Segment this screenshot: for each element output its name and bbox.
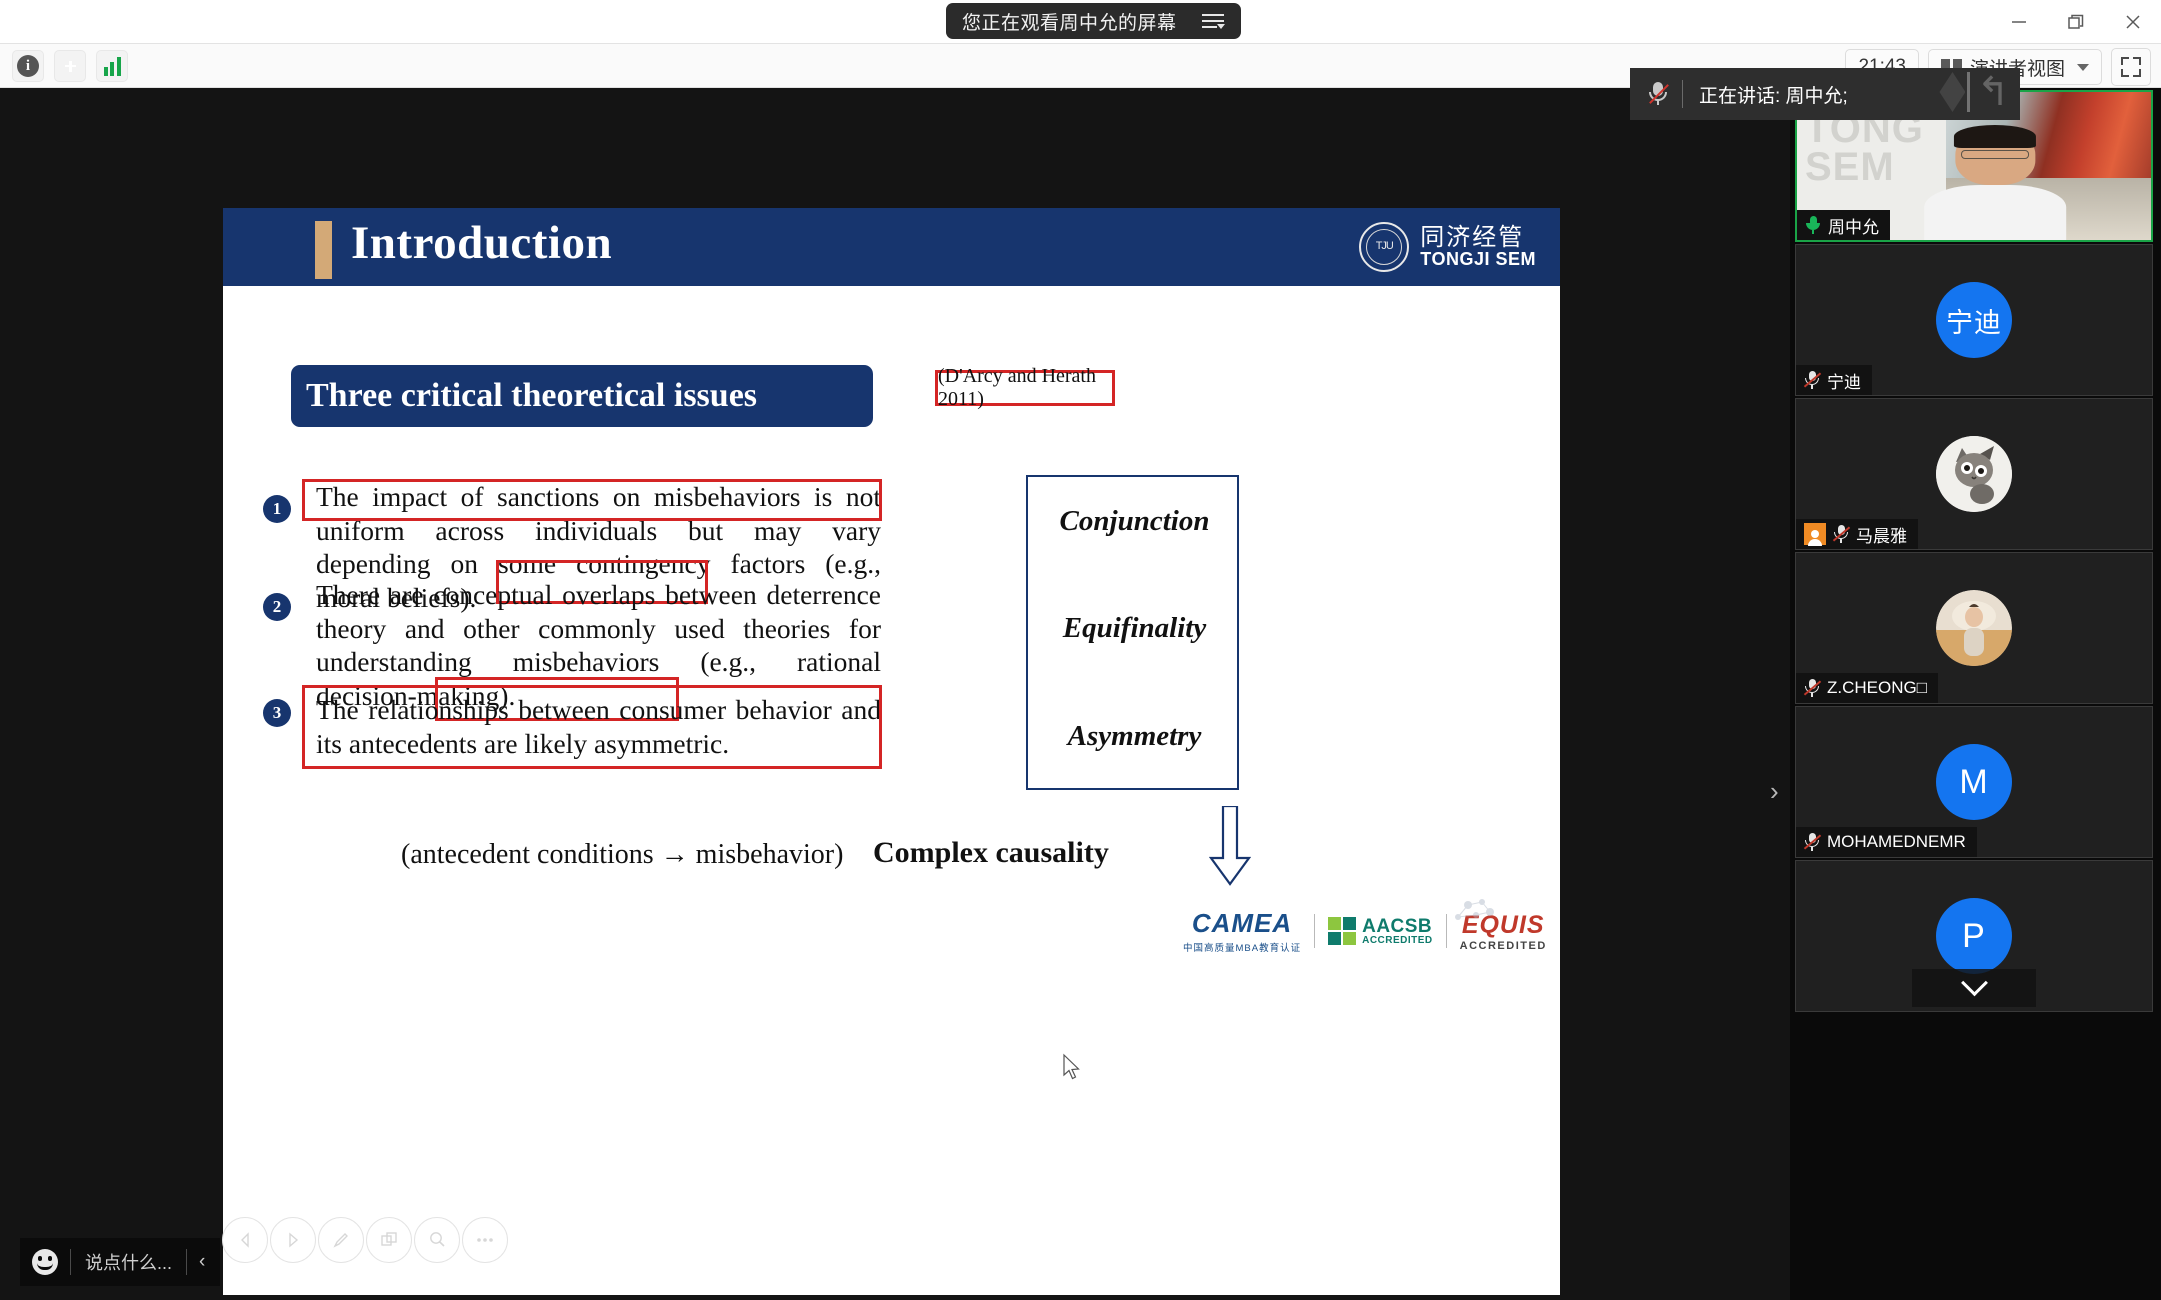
bottom-left-caption: (antecedent conditions → misbehavior) — [401, 839, 843, 871]
mouse-cursor — [1062, 1053, 1084, 1083]
annotation-tools-overlay: ↰ — [1939, 72, 2010, 112]
participant-namebar-2: 马晨雅 — [1796, 519, 1918, 549]
mic-unmuted-icon — [1805, 215, 1821, 235]
copy-button[interactable] — [366, 1217, 412, 1263]
accreditation-logos: CAMEA 中国高质量MBA教育认证 AACSB ACCREDITED — [1183, 908, 1547, 954]
camea-name: CAMEA — [1192, 908, 1292, 939]
chevron-left-icon[interactable]: ‹ — [187, 1251, 217, 1273]
screen-share-banner: 您正在观看周中允的屏幕 — [946, 3, 1241, 39]
participant-name-1: 宁迪 — [1827, 368, 1861, 393]
point-number-3: 3 — [263, 699, 291, 727]
participant-avatar-2 — [1936, 436, 2012, 512]
zoom-button[interactable] — [414, 1217, 460, 1263]
participant-name-4: MOHAMEDNEMR — [1827, 832, 1966, 852]
participant-tile-1[interactable]: 宁迪 宁迪 — [1795, 244, 2153, 396]
concept-equifinality: Equifinality — [1028, 612, 1241, 645]
close-button[interactable] — [2104, 0, 2161, 44]
signal-bars-icon — [104, 57, 121, 76]
down-arrow-icon — [1209, 806, 1251, 888]
participant-name-2: 马晨雅 — [1856, 522, 1907, 547]
meeting-info-button[interactable]: i — [12, 50, 44, 82]
hamburger-icon — [1202, 13, 1224, 29]
chat-placeholder[interactable]: 说点什么... — [71, 1249, 186, 1275]
concept-conjunction: Conjunction — [1028, 505, 1241, 538]
mic-muted-icon — [1833, 524, 1849, 544]
host-badge-icon — [1804, 523, 1826, 545]
participant-namebar-0: 周中允 — [1797, 210, 1890, 240]
mic-muted-icon — [1804, 832, 1820, 852]
aacsb-sub: ACCREDITED — [1362, 936, 1433, 946]
numbered-points-list: 1 The impact of sanctions on misbehavior… — [223, 208, 1560, 1295]
participant-avatar-5: P — [1936, 898, 2012, 974]
participant-tile-2[interactable]: 马晨雅 — [1795, 398, 2153, 550]
participants-panel: TONGSEM 周中允 宁迪 宁迪 — [1790, 88, 2161, 1300]
cat-avatar-icon — [1936, 436, 2012, 512]
minimize-button[interactable] — [1990, 0, 2047, 44]
scroll-down-button[interactable] — [1912, 969, 2036, 1007]
equis-sub: ACCREDITED — [1460, 940, 1547, 952]
equis-logo: EQUIS ACCREDITED — [1460, 911, 1547, 952]
camea-sub: 中国高质量MBA教育认证 — [1183, 940, 1301, 954]
participant-namebar-4: MOHAMEDNEMR — [1796, 827, 1977, 857]
active-speaker-label: 正在讲话: 周中允; — [1699, 81, 1848, 108]
active-speaker-toast: 正在讲话: 周中允; ↰ — [1630, 68, 2020, 120]
point-text-3: The relationships between consumer behav… — [316, 693, 881, 760]
play-button[interactable] — [270, 1217, 316, 1263]
participant-namebar-1: 宁迪 — [1796, 365, 1872, 395]
baby-photo-avatar-icon — [1936, 590, 2012, 666]
share-banner-text: 您正在观看周中允的屏幕 — [962, 8, 1191, 35]
participant-name-3: Z.CHEONG□ — [1827, 678, 1927, 698]
chat-input-bar[interactable]: 说点什么... ‹ — [20, 1238, 220, 1286]
shield-plus-icon — [59, 55, 81, 78]
fullscreen-icon — [2121, 57, 2141, 77]
participant-tile-4[interactable]: M MOHAMEDNEMR — [1795, 706, 2153, 858]
chevron-down-icon — [2077, 64, 2089, 71]
panel-expand-arrow[interactable]: › — [1770, 776, 1779, 807]
aacsb-name: AACSB — [1362, 917, 1433, 936]
presentation-slide: Introduction TJU 同济经管 TONGJI SEM Three c… — [223, 208, 1560, 1295]
video-background-text: TONGSEM — [1805, 110, 1924, 186]
security-button[interactable] — [54, 50, 86, 82]
pen-button[interactable] — [318, 1217, 364, 1263]
participant-avatar-3 — [1936, 590, 2012, 666]
aacsb-mark-icon — [1328, 917, 1356, 945]
camea-logo: CAMEA 中国高质量MBA教育认证 — [1183, 908, 1301, 954]
share-banner-menu-button[interactable] — [1191, 6, 1235, 36]
concept-asymmetry: Asymmetry — [1028, 720, 1241, 753]
aacsb-logo: AACSB ACCREDITED — [1328, 917, 1433, 946]
mic-muted-icon — [1804, 370, 1820, 390]
equis-network-icon — [1450, 897, 1498, 927]
info-icon: i — [17, 55, 39, 77]
maximize-button[interactable] — [2047, 0, 2104, 44]
smiley-icon[interactable] — [32, 1249, 58, 1275]
point-number-2: 2 — [263, 593, 291, 621]
speaker-silhouette — [1924, 125, 2066, 240]
window-title-bar: 您正在观看周中允的屏幕 — [0, 0, 2161, 44]
mic-muted-icon — [1648, 81, 1668, 107]
share-control-toolbar — [222, 1208, 532, 1272]
participant-avatar-4: M — [1936, 744, 2012, 820]
toolbar-left-icons: i — [12, 50, 128, 82]
participant-namebar-3: Z.CHEONG□ — [1796, 673, 1938, 703]
participant-tile-5[interactable]: P — [1795, 860, 2153, 1012]
window-controls — [1990, 0, 2161, 44]
fullscreen-button[interactable] — [2111, 48, 2151, 86]
bottom-right-caption: Complex causality — [873, 836, 1109, 870]
participant-avatar-1: 宁迪 — [1936, 282, 2012, 358]
network-quality-button[interactable] — [96, 50, 128, 82]
mic-muted-icon — [1804, 678, 1820, 698]
concept-box: Conjunction Equifinality Asymmetry — [1026, 475, 1239, 790]
point-number-1: 1 — [263, 495, 291, 523]
shared-screen-stage: Introduction TJU 同济经管 TONGJI SEM Three c… — [0, 88, 1790, 1300]
participant-name-0: 周中允 — [1828, 213, 1879, 238]
more-button[interactable] — [462, 1217, 508, 1263]
participant-tile-3[interactable]: Z.CHEONG□ — [1795, 552, 2153, 704]
previous-slide-button[interactable] — [222, 1217, 268, 1263]
